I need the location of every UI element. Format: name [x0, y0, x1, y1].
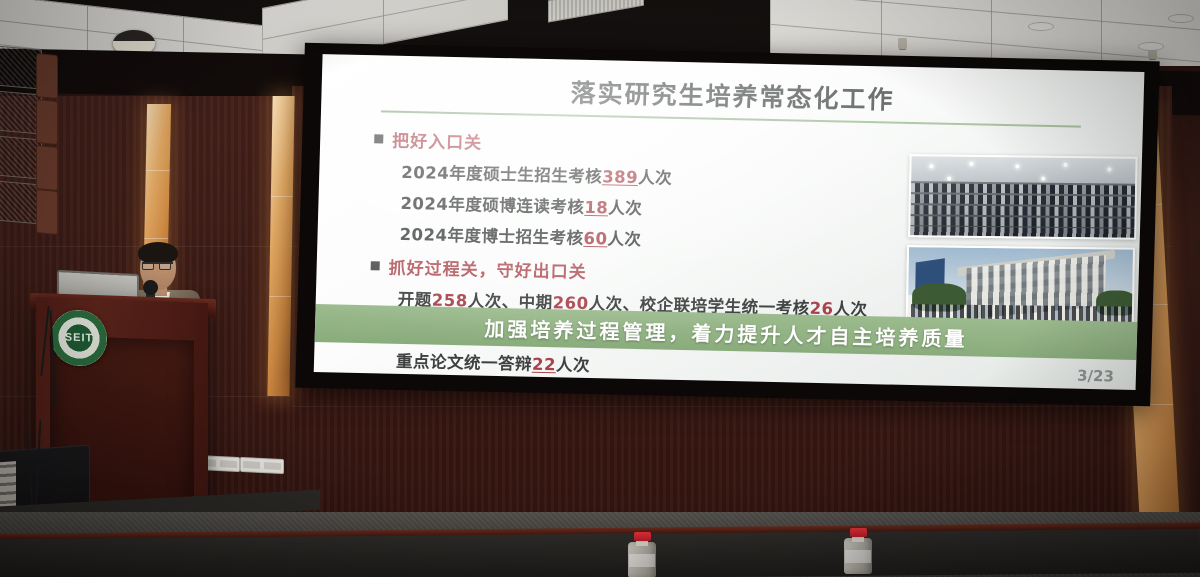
bottle-cap — [634, 532, 651, 541]
speaker-bracket — [36, 99, 58, 145]
bullet-square-icon — [374, 134, 383, 143]
recessed-light — [1138, 42, 1164, 51]
highlight-number: 60 — [583, 229, 607, 249]
recessed-light — [1028, 22, 1054, 31]
section-heading-label: 抓好过程关，守好出口关 — [388, 254, 587, 283]
presentation-room-scene: 落实研究生培养常态化工作 把好入口关 2024年度硕士生招生考核389人次 20… — [0, 0, 1200, 577]
presenter-hair — [138, 242, 178, 264]
bullet-line: 2024年度硕士生招生考核389人次 — [401, 159, 934, 195]
footer-banner-text: 加强培养过程管理，着力提升人才自主培养质量 — [484, 312, 968, 352]
microphone-head-icon — [143, 280, 158, 295]
speaker-bracket — [36, 189, 58, 235]
bullet-square-icon — [371, 261, 380, 270]
bottle-label — [629, 554, 655, 567]
slide-page-number: 3/23 — [1077, 367, 1114, 386]
sprinkler-head — [898, 38, 907, 49]
highlight-number: 389 — [602, 167, 638, 187]
speaker-bracket — [36, 145, 58, 191]
presentation-slide: 落实研究生培养常态化工作 把好入口关 2024年度硕士生招生考核389人次 20… — [314, 54, 1145, 390]
auditorium-audience-photo — [908, 154, 1137, 240]
bullet-line: 2024年度硕博连读考核18人次 — [400, 190, 933, 226]
bottle-cap — [850, 528, 867, 537]
water-bottle — [628, 532, 656, 577]
speaker-bracket — [36, 53, 58, 99]
water-bottle — [844, 528, 872, 574]
glasses-bridge — [142, 262, 173, 269]
photo-audience-region — [910, 181, 1135, 237]
bullet-line: 2024年度博士招生考核60人次 — [399, 221, 932, 257]
bullet-section-heading: 抓好过程关，守好出口关 — [370, 253, 931, 290]
projection-screen-frame: 落实研究生培养常态化工作 把好入口关 2024年度硕士生招生考核389人次 20… — [295, 43, 1159, 407]
slide-title: 落实研究生培养常态化工作 — [321, 68, 1144, 122]
bottle-label — [845, 550, 871, 563]
highlight-number: 22 — [532, 355, 556, 375]
bullet-section-heading: 把好入口关 — [374, 126, 935, 163]
recessed-light — [1168, 14, 1194, 23]
line-array-speaker-stack — [0, 46, 50, 226]
highlight-number: 18 — [584, 198, 608, 218]
podium-emblem-label: SEIT — [65, 332, 93, 345]
wall-outlet — [240, 457, 284, 474]
section-heading-label: 把好入口关 — [392, 127, 483, 154]
